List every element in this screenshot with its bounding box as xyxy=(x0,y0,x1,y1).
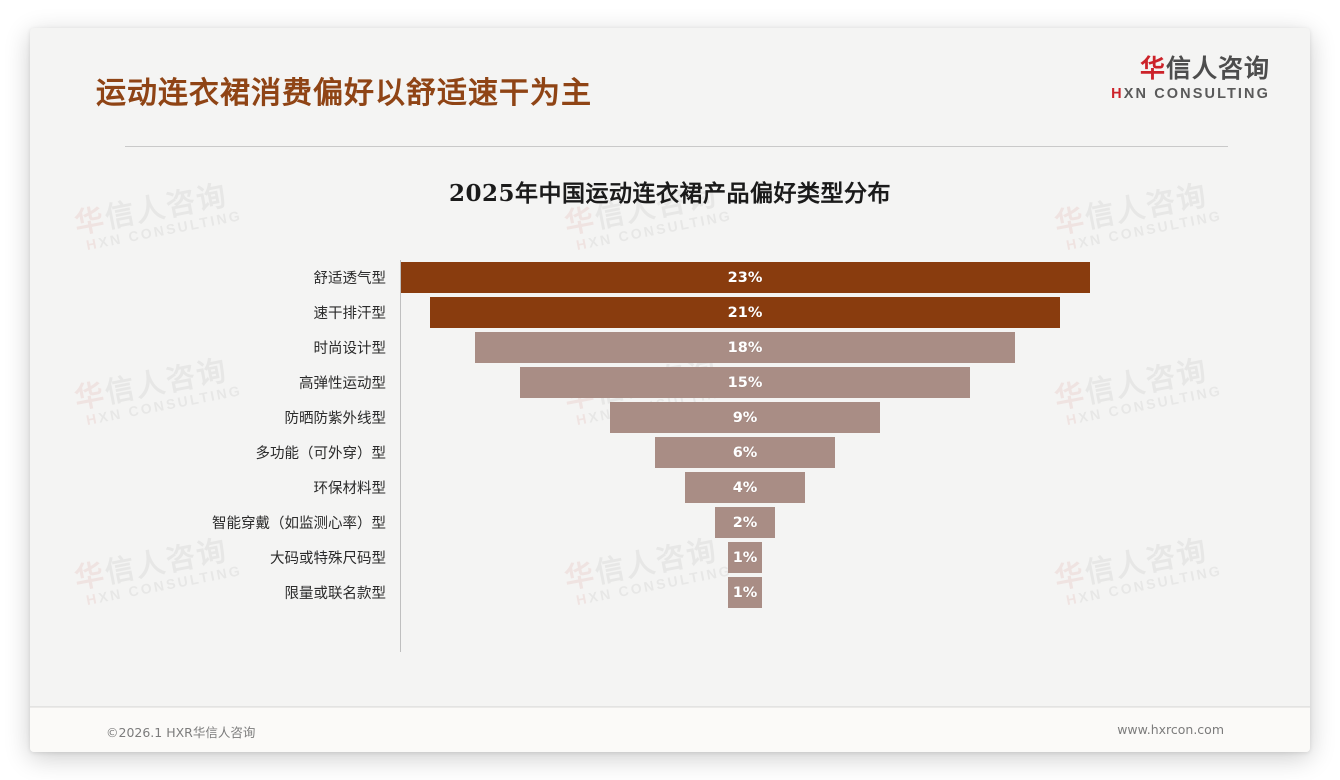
header-divider xyxy=(125,146,1228,147)
bar-value-label: 1% xyxy=(733,585,758,601)
chart-bar-row: 高弹性运动型15% xyxy=(30,365,1310,400)
bar-value-label: 15% xyxy=(728,375,763,391)
chart-bar-row: 速干排汗型21% xyxy=(30,295,1310,330)
copyright-text: ©2026.1 HXR华信人咨询 xyxy=(106,722,255,741)
bar-value-label: 1% xyxy=(733,550,758,566)
page-title: 运动连衣裙消费偏好以舒适速干为主 xyxy=(96,68,592,112)
bar-value-label: 9% xyxy=(733,410,758,426)
chart-bar-row: 防晒防紫外线型9% xyxy=(30,400,1310,435)
bars-container: 舒适透气型23%速干排汗型21%时尚设计型18%高弹性运动型15%防晒防紫外线型… xyxy=(30,260,1310,610)
watermark-english: HXN CONSULTING xyxy=(1065,208,1223,253)
chart-bar[interactable]: 21% xyxy=(430,297,1060,328)
category-label: 高弹性运动型 xyxy=(30,372,400,393)
category-label: 时尚设计型 xyxy=(30,337,400,358)
bar-value-label: 4% xyxy=(733,480,758,496)
category-axis-line xyxy=(400,260,401,652)
logo-en-red: H xyxy=(1111,86,1124,102)
chart-bar-row: 环保材料型4% xyxy=(30,470,1310,505)
bar-track: 9% xyxy=(400,400,1310,435)
chart-bar-row: 智能穿戴（如监测心率）型2% xyxy=(30,505,1310,540)
chart-bar[interactable]: 15% xyxy=(520,367,970,398)
logo-cn-rest: 信人咨询 xyxy=(1166,54,1270,83)
chart-bar[interactable]: 18% xyxy=(475,332,1015,363)
category-label: 速干排汗型 xyxy=(30,302,400,323)
watermark-english: HXN CONSULTING xyxy=(575,208,733,253)
bar-track: 1% xyxy=(400,540,1310,575)
bar-value-label: 21% xyxy=(728,305,763,321)
chart-bar-row: 舒适透气型23% xyxy=(30,260,1310,295)
watermark-english: HXN CONSULTING xyxy=(85,208,243,253)
category-label: 智能穿戴（如监测心率）型 xyxy=(30,512,400,533)
bar-track: 4% xyxy=(400,470,1310,505)
logo-en-rest: XN CONSULTING xyxy=(1124,86,1270,102)
chart-bar[interactable]: 4% xyxy=(685,472,805,503)
chart-bar[interactable]: 6% xyxy=(655,437,835,468)
chart-bar-row: 多功能（可外穿）型6% xyxy=(30,435,1310,470)
logo-english-text: HXN CONSULTING xyxy=(1111,86,1270,102)
bar-track: 2% xyxy=(400,505,1310,540)
category-label: 环保材料型 xyxy=(30,477,400,498)
category-label: 大码或特殊尺码型 xyxy=(30,547,400,568)
slide-canvas: 华信人咨询HXN CONSULTING华信人咨询HXN CONSULTING华信… xyxy=(30,28,1310,752)
category-label: 多功能（可外穿）型 xyxy=(30,442,400,463)
logo-cn-red: 华 xyxy=(1140,54,1166,83)
bar-track: 23% xyxy=(400,260,1310,295)
chart-bar[interactable]: 9% xyxy=(610,402,880,433)
chart-bar-row: 限量或联名款型1% xyxy=(30,575,1310,610)
footer-bar: ©2026.1 HXR华信人咨询 www.hxrcon.com xyxy=(30,707,1310,752)
website-link[interactable]: www.hxrcon.com xyxy=(1117,722,1224,737)
bar-track: 6% xyxy=(400,435,1310,470)
bar-value-label: 23% xyxy=(728,270,763,286)
bar-value-label: 18% xyxy=(728,340,763,356)
bar-track: 15% xyxy=(400,365,1310,400)
chart-bar-row: 大码或特殊尺码型1% xyxy=(30,540,1310,575)
funnel-bar-chart: 舒适透气型23%速干排汗型21%时尚设计型18%高弹性运动型15%防晒防紫外线型… xyxy=(30,260,1310,660)
chart-bar[interactable]: 1% xyxy=(728,577,762,608)
chart-bar-row: 时尚设计型18% xyxy=(30,330,1310,365)
company-logo: 华信人咨询 HXN CONSULTING xyxy=(1111,55,1270,102)
bar-value-label: 6% xyxy=(733,445,758,461)
bar-track: 21% xyxy=(400,295,1310,330)
category-label: 舒适透气型 xyxy=(30,267,400,288)
bar-track: 18% xyxy=(400,330,1310,365)
category-label: 防晒防紫外线型 xyxy=(30,407,400,428)
category-label: 限量或联名款型 xyxy=(30,582,400,603)
slide-header: 运动连衣裙消费偏好以舒适速干为主 华信人咨询 HXN CONSULTING xyxy=(30,28,1310,124)
logo-chinese-text: 华信人咨询 xyxy=(1111,55,1270,84)
chart-bar[interactable]: 1% xyxy=(728,542,762,573)
chart-title: 2025年中国运动连衣裙产品偏好类型分布 xyxy=(30,174,1310,208)
bar-track: 1% xyxy=(400,575,1310,610)
chart-bar[interactable]: 2% xyxy=(715,507,775,538)
bar-value-label: 2% xyxy=(733,515,758,531)
chart-bar[interactable]: 23% xyxy=(400,262,1090,293)
